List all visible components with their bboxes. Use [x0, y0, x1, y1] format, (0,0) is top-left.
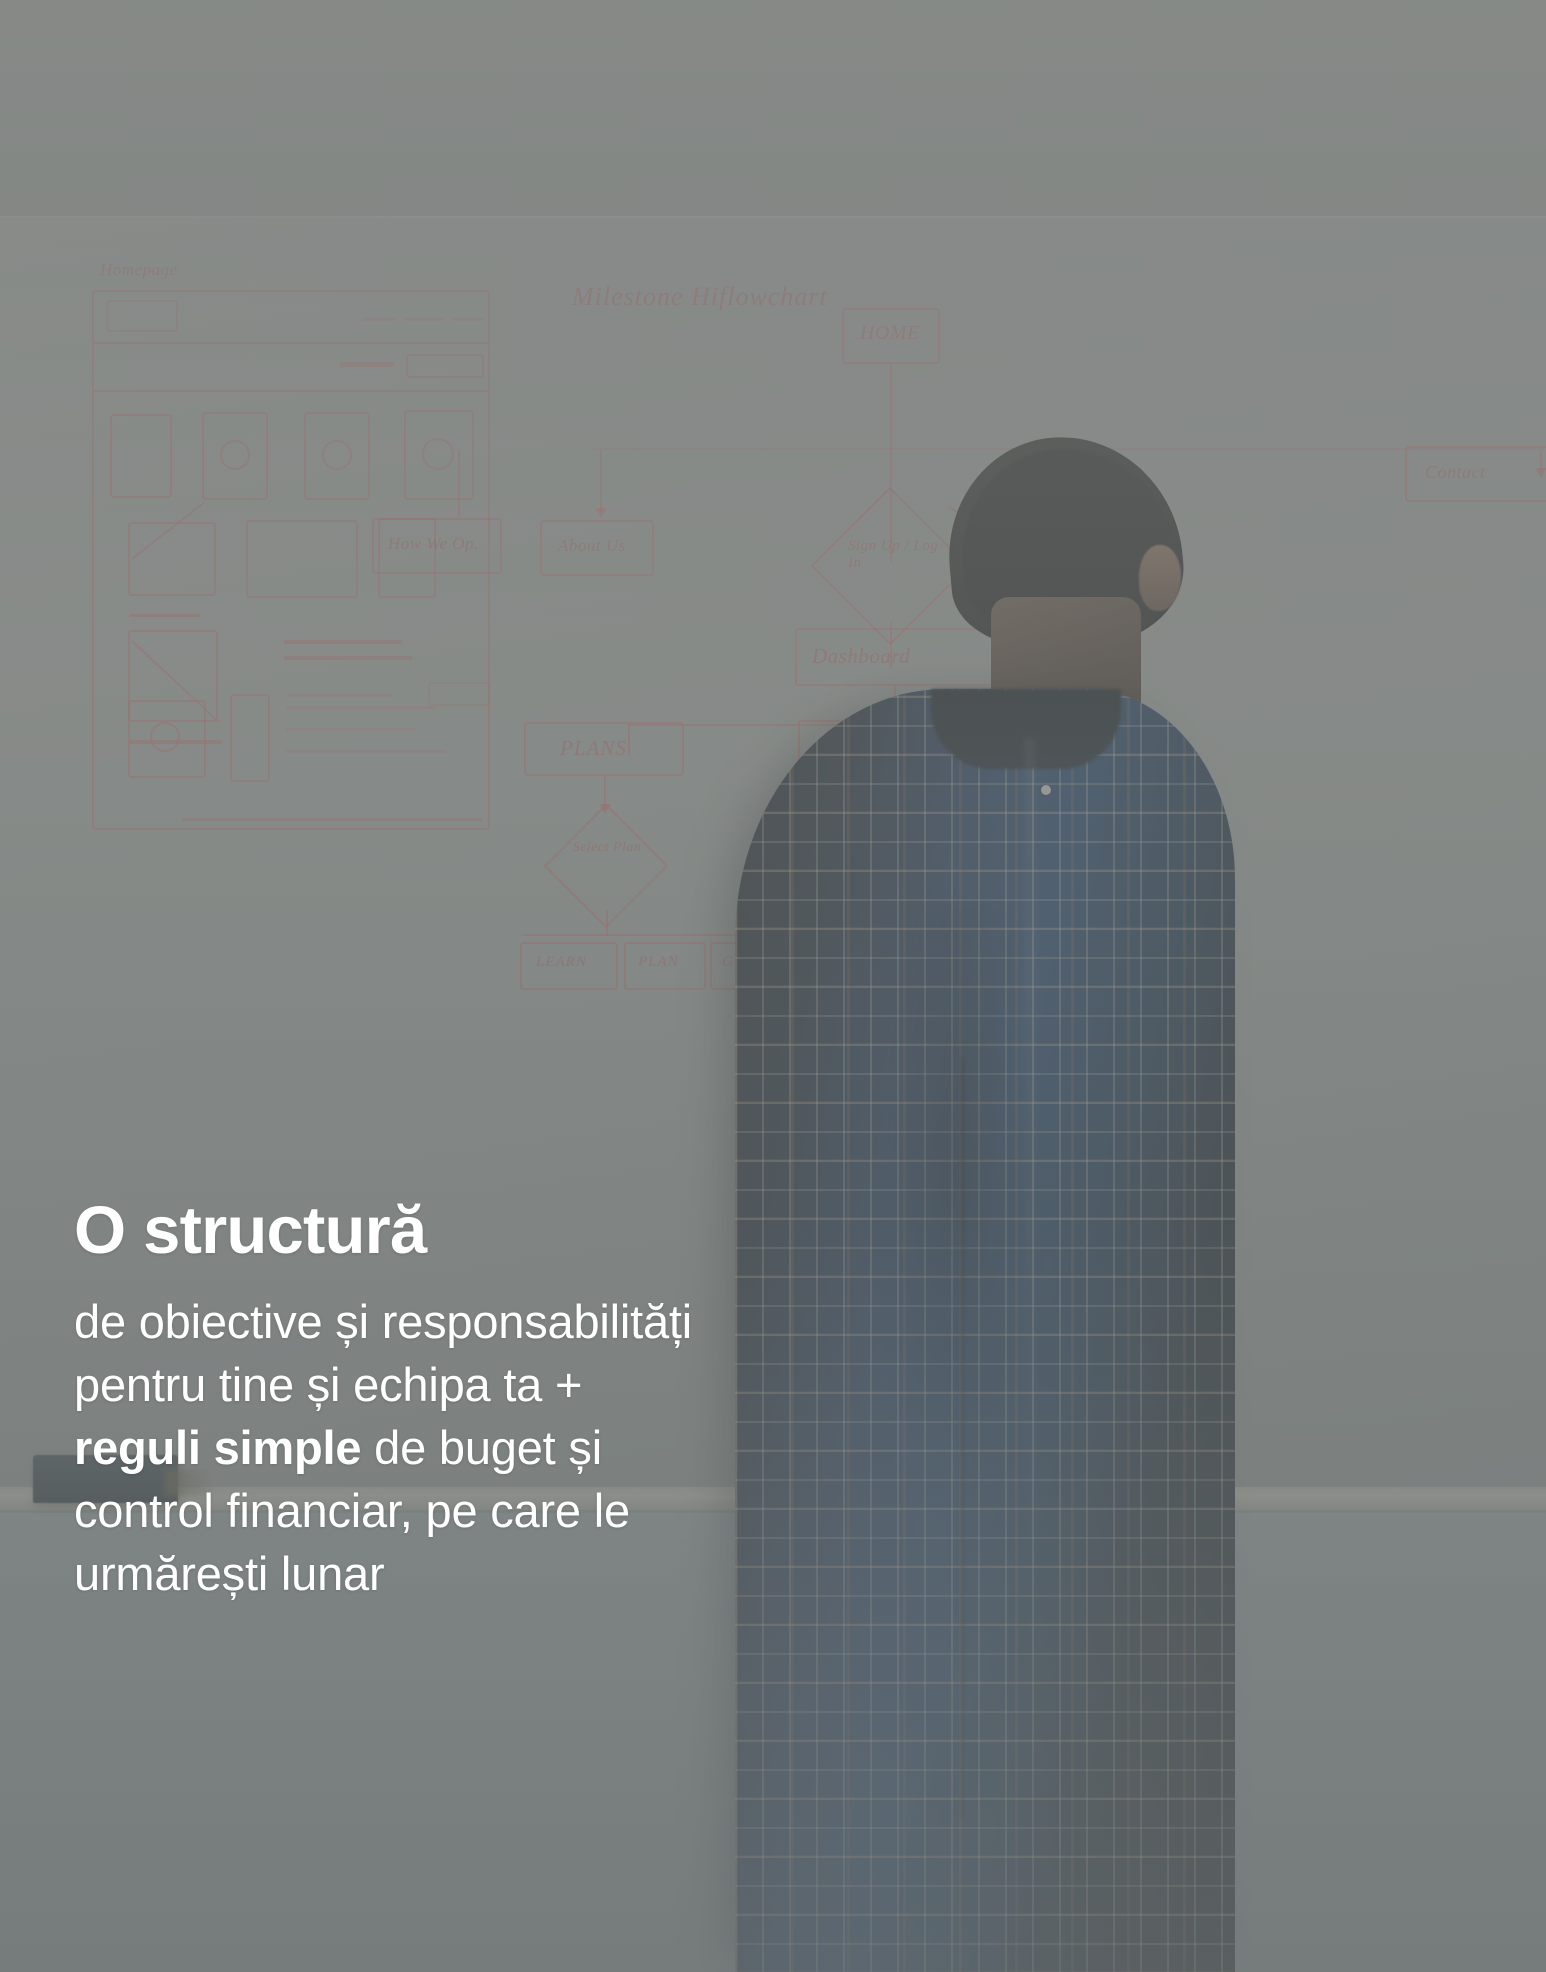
body-line-3-rest: de buget și	[361, 1421, 602, 1474]
poster-canvas: Homepage	[0, 0, 1546, 1972]
body-line-2: pentru tine și echipa ta +	[74, 1354, 1054, 1417]
headline: O structură	[74, 1195, 1054, 1267]
gray-overlay-tint	[0, 0, 1546, 1972]
body-line-4: control financiar, pe care le	[74, 1480, 1054, 1543]
body-line-3-bold: reguli simple	[74, 1421, 361, 1474]
body-line-3: reguli simple de buget și	[74, 1417, 1054, 1480]
copy-block: O structură de obiective și responsabili…	[74, 1195, 1054, 1606]
body-line-1: de obiective și responsabilități	[74, 1291, 1054, 1354]
body-line-5: urmărești lunar	[74, 1543, 1054, 1606]
